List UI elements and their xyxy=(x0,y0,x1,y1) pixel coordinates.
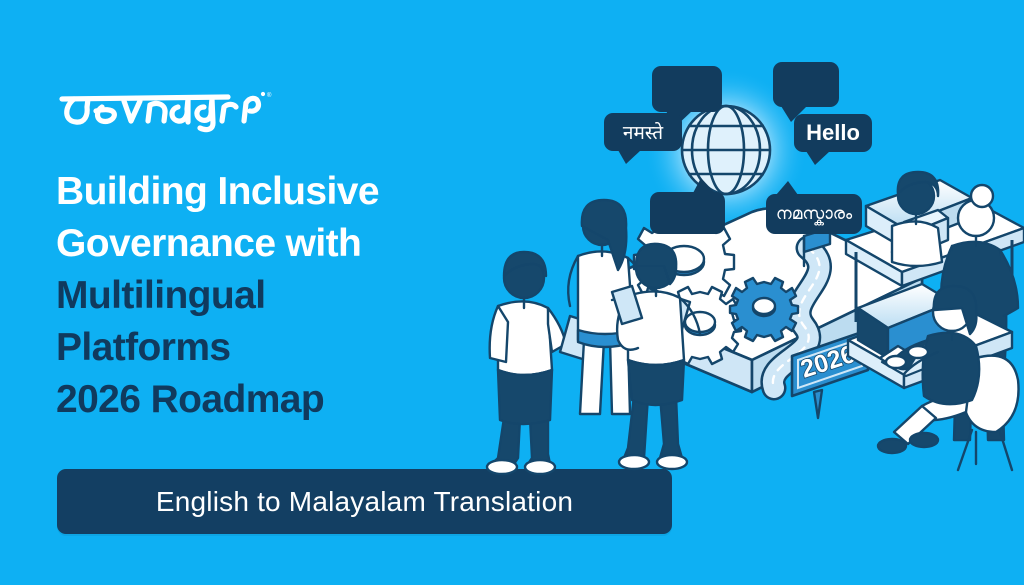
speech-bubble-hello-text: Hello xyxy=(806,120,860,146)
cta-banner-label: English to Malayalam Translation xyxy=(156,486,573,518)
speech-bubble-hello: Hello xyxy=(794,114,872,152)
headline-line-3: Multilingual xyxy=(56,270,486,322)
speech-bubble-namaste: नमस्ते xyxy=(604,113,682,151)
headline-line-1: Building Inclusive xyxy=(56,166,486,218)
speech-bubble-namaskaram: നമസ്കാരം xyxy=(766,194,862,234)
devnagri-logo[interactable]: ® xyxy=(52,86,292,132)
headline-line-4: Platforms xyxy=(56,322,486,374)
speech-bubble-empty-1 xyxy=(652,66,722,112)
headline: Building Inclusive Governance with Multi… xyxy=(56,166,486,426)
promo-banner: ® Building Inclusive Governance with Mul… xyxy=(0,0,1024,585)
headline-line-2: Governance with xyxy=(56,218,486,270)
speech-bubble-empty-3 xyxy=(650,192,725,234)
speech-bubble-namaskaram-text: നമസ്കാരം xyxy=(776,204,852,224)
svg-text:®: ® xyxy=(267,92,272,99)
speech-bubble-empty-2 xyxy=(773,62,839,107)
headline-line-5: 2026 Roadmap xyxy=(56,374,486,426)
hero-illustration: 2026 xyxy=(452,40,1024,480)
speech-bubble-namaste-text: नमस्ते xyxy=(623,119,663,145)
